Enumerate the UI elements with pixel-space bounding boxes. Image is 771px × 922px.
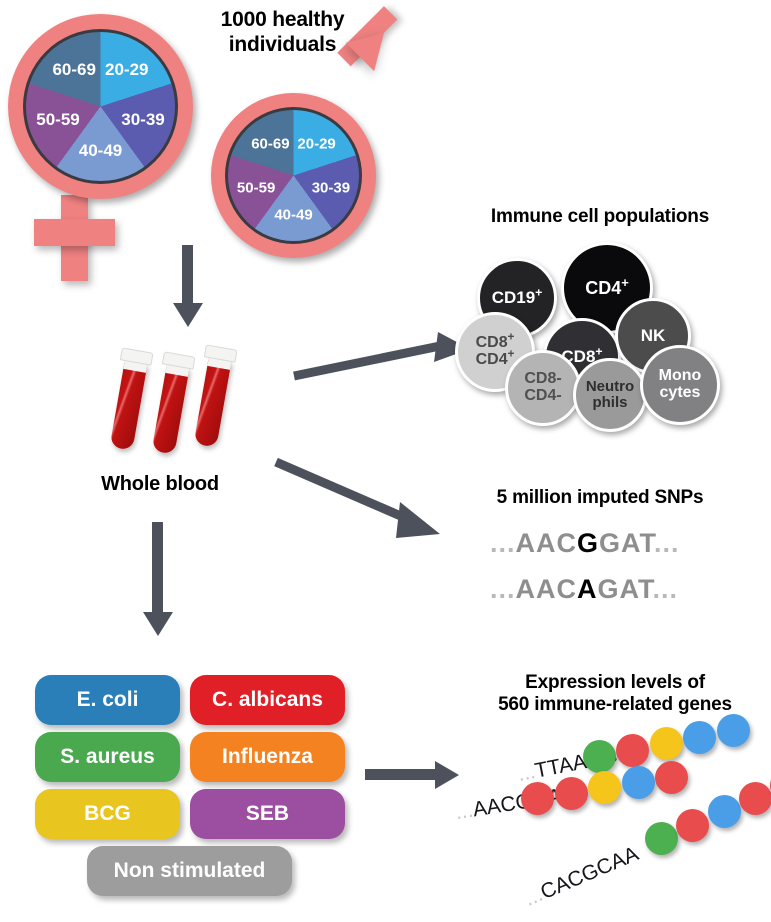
stimulus-c-albicans[interactable]: C. albicans — [190, 675, 345, 725]
expression-bead — [555, 777, 588, 810]
expression-bead — [583, 740, 616, 773]
immune-cell-label: Monocytes — [659, 368, 702, 401]
whole-blood-label: Whole blood — [60, 473, 260, 497]
blood-tube-body — [110, 360, 148, 451]
snp-right-bases: GAT — [599, 528, 654, 558]
immune-cell-label: CD8+CD4+ — [476, 335, 515, 368]
expression-bead — [655, 761, 688, 794]
immune-populations-title: Immune cell populations — [450, 206, 750, 228]
snp-prefix: ... — [490, 574, 516, 604]
snp-suffix: ... — [653, 574, 679, 604]
expression-bead — [645, 822, 678, 855]
snp-left-bases: AAC — [516, 528, 578, 558]
stimulus-bcg[interactable]: BCG — [35, 789, 180, 839]
expression-bead — [622, 766, 655, 799]
expression-bead — [739, 782, 771, 815]
stimulus-label: C. albicans — [212, 688, 323, 712]
arrow-blood-to-snps — [272, 450, 462, 550]
stimulus-influenza[interactable]: Influenza — [190, 732, 345, 782]
snp-prefix: ... — [490, 528, 516, 558]
stimulus-label: BCG — [84, 802, 131, 826]
blood-tube-body — [194, 357, 232, 448]
male-age-pie: 20-2930-3940-4950-5960-69 — [228, 110, 359, 241]
stimuli-panel: E. coliC. albicansS. aureusInfluenzaBCGS… — [35, 675, 345, 895]
blood-tubes-group — [120, 340, 280, 465]
arrow-blood-to-immune — [290, 330, 480, 390]
stimulus-label: Non stimulated — [114, 859, 266, 883]
snp-right-bases: GAT — [598, 574, 653, 604]
female-age-slice-60-69 — [26, 32, 175, 181]
immune-cell-cluster: CD19+CD4+CD8+CD4+CD8+NKCD8-CD4-Neutrophi… — [455, 240, 765, 415]
expression-bead — [708, 795, 741, 828]
expression-title-line2: 560 immune-related genes — [470, 694, 760, 716]
snp-sequences: ...AACGGAT... ...AACAGAT... — [490, 528, 750, 618]
expression-title-line1: Expression levels of — [470, 672, 760, 694]
immune-cell-neutronegphils: Neutrophils — [573, 358, 647, 432]
immune-cell-mononegcytes: Monocytes — [640, 345, 720, 425]
expression-bead — [650, 727, 683, 760]
snp-sequence-row: ...AACAGAT... — [490, 574, 678, 605]
female-age-pie: 20-2930-3940-4950-5960-69 — [26, 32, 175, 181]
expression-strand-sequence: ...CACGCAA — [521, 842, 642, 912]
immune-cell-label: CD4+ — [585, 279, 629, 298]
stimulus-e-coli[interactable]: E. coli — [35, 675, 180, 725]
expression-bead — [616, 734, 649, 767]
stimulus-label: E. coli — [77, 688, 139, 712]
snp-variant-base: G — [577, 528, 599, 558]
blood-tube-body — [152, 364, 190, 455]
immune-cell-label: CD19+ — [492, 289, 543, 307]
expression-bead — [676, 809, 709, 842]
immune-cell-cd8negnegcd4neg: CD8-CD4- — [505, 350, 581, 426]
male-age-label-60-69: 60-69 — [251, 135, 289, 152]
figure-canvas: 1000 healthy individuals 20-2930-3940-49… — [0, 0, 771, 922]
snp-variant-base: A — [577, 574, 598, 604]
female-age-label-60-69: 60-69 — [52, 60, 95, 80]
immune-cell-label: CD8-CD4- — [524, 371, 561, 404]
immune-cell-label: Neutrophils — [586, 379, 634, 410]
snp-sequence-row: ...AACGGAT... — [490, 528, 680, 559]
stimulus-non-stimulated[interactable]: Non stimulated — [87, 846, 292, 896]
male-age-slice-60-69 — [228, 110, 359, 241]
snp-left-bases: AAC — [516, 574, 578, 604]
expression-bead — [521, 782, 554, 815]
female-stem-horizontal — [34, 219, 115, 246]
stimulus-s-aureus[interactable]: S. aureus — [35, 732, 180, 782]
expression-strands: ...TTAACGG...AACGGAT...CACGCAA — [455, 730, 771, 905]
snps-title: 5 million imputed SNPs — [455, 487, 745, 509]
expression-bead — [717, 714, 750, 747]
expression-title: Expression levels of 560 immune-related … — [470, 672, 760, 717]
stimulus-label: Influenza — [222, 745, 313, 769]
expression-bead — [588, 771, 621, 804]
stimulus-label: S. aureus — [60, 745, 155, 769]
stimulus-label: SEB — [246, 802, 289, 826]
stimulus-seb[interactable]: SEB — [190, 789, 345, 839]
snp-suffix: ... — [654, 528, 680, 558]
immune-cell-label: NK — [641, 327, 666, 345]
expression-bead — [683, 721, 716, 754]
